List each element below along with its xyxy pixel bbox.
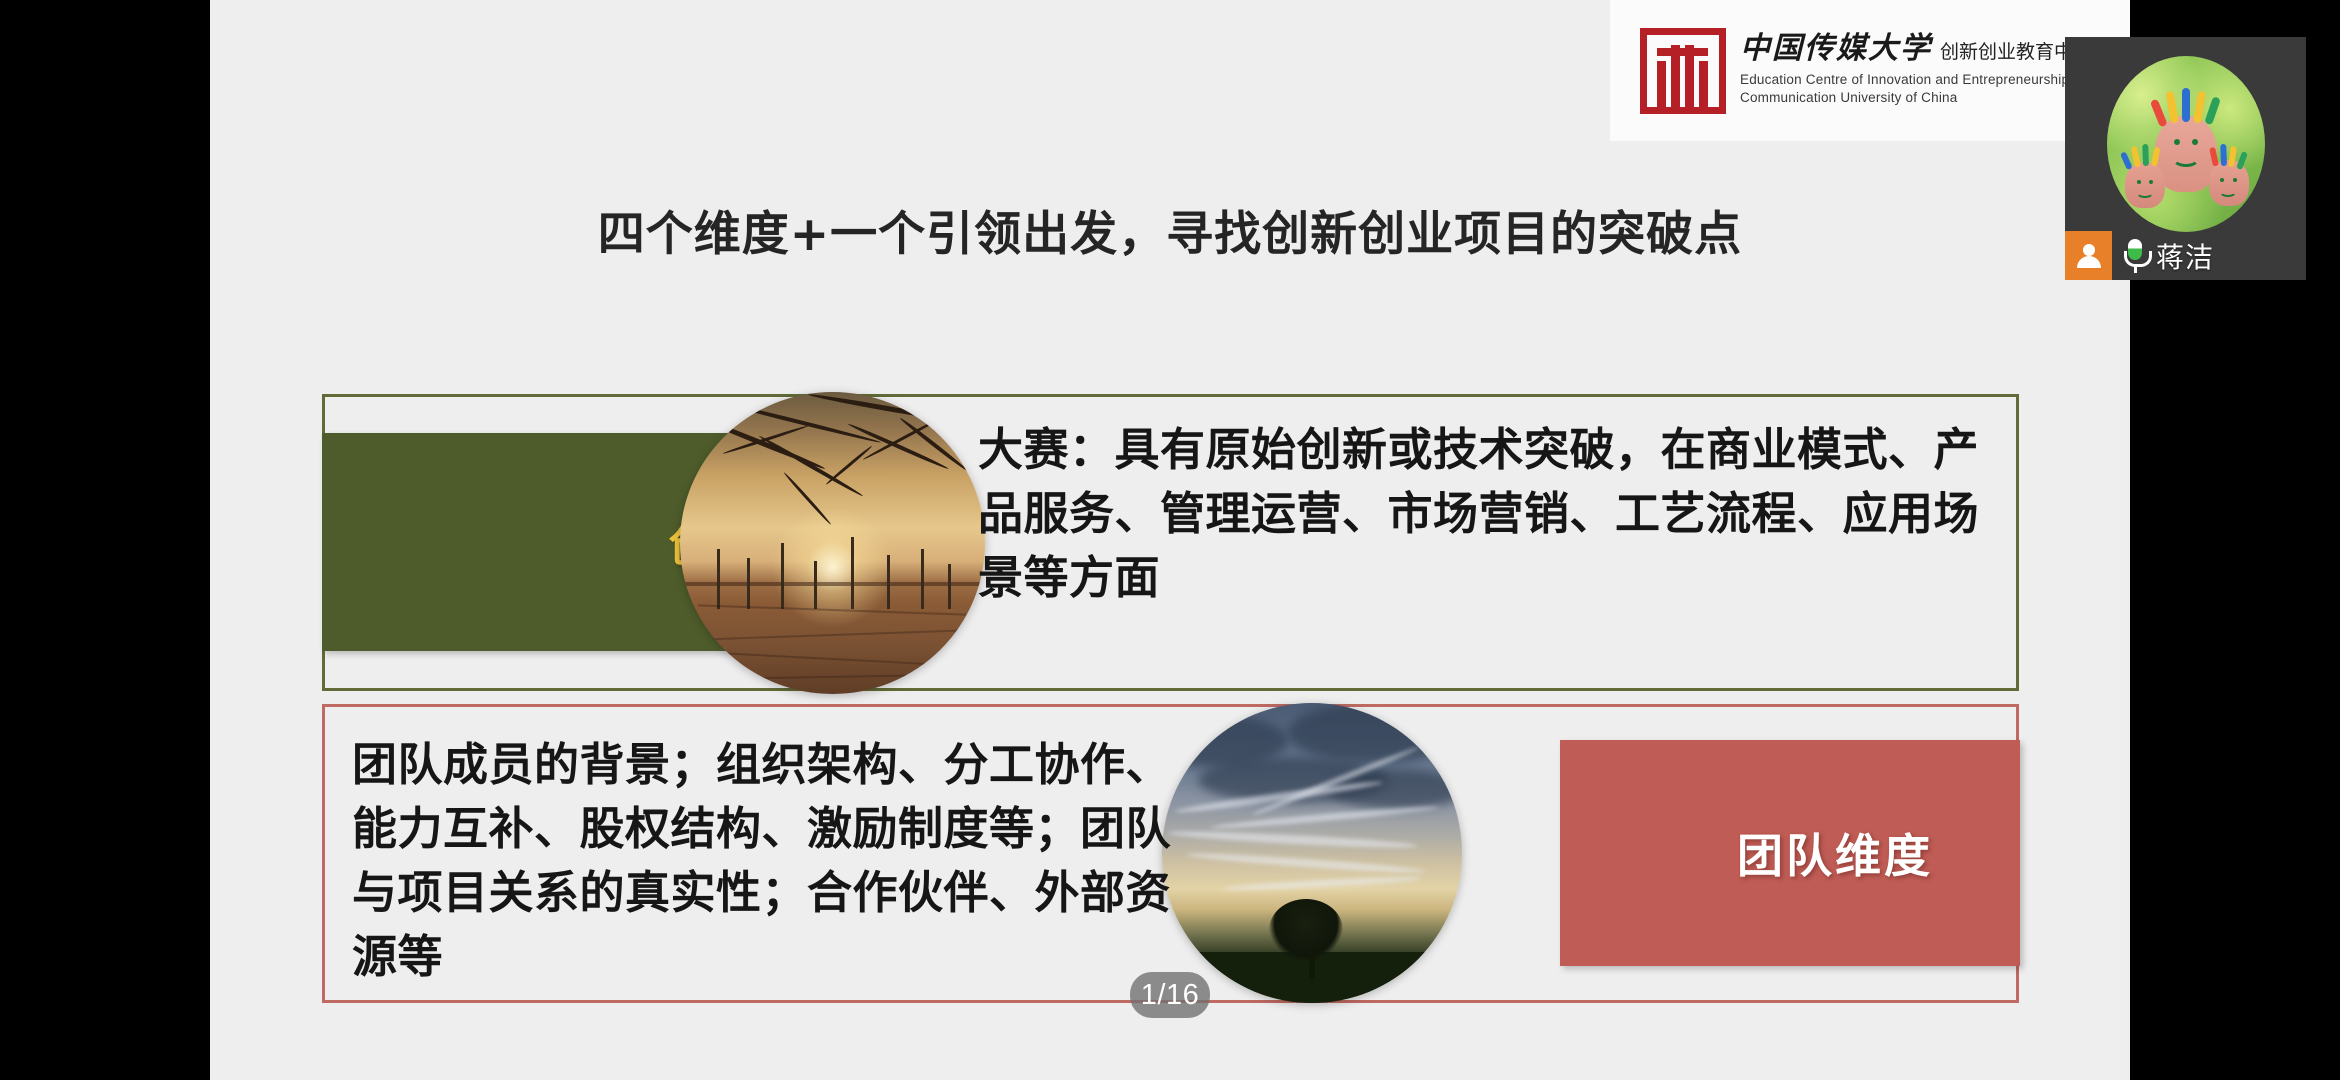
painted-hands-avatar bbox=[2107, 56, 2265, 232]
sunset-trees-oval-photo bbox=[680, 392, 985, 694]
logo-english-line-2: Communication University of China bbox=[1740, 89, 2092, 107]
participant-video-tile[interactable]: 蒋洁 bbox=[2065, 37, 2306, 280]
innovation-dimension-body: 大赛：具有原始创新或技术突破，在商业模式、产品服务、管理运营、市场营销、工艺流程… bbox=[978, 418, 1998, 610]
organization-logo: 中国传媒大学 创新创业教育中心 Education Centre of Inno… bbox=[1610, 0, 2130, 141]
person-icon bbox=[2065, 231, 2112, 280]
participant-footer: 蒋洁 bbox=[2065, 231, 2214, 280]
page-indicator: 1/16 bbox=[1130, 972, 1210, 1018]
team-dimension-label: 团队维度 bbox=[1560, 740, 2020, 966]
microphone-icon[interactable] bbox=[2122, 239, 2148, 273]
presentation-slide[interactable]: 中国传媒大学 创新创业教育中心 Education Centre of Inno… bbox=[210, 0, 2130, 1080]
screen-share-stage: 中国传媒大学 创新创业教育中心 Education Centre of Inno… bbox=[0, 0, 2340, 1080]
logo-university-name: 中国传媒大学 bbox=[1740, 34, 1932, 64]
slide-title: 四个维度+一个引领出发，寻找创新创业项目的突破点 bbox=[210, 195, 2130, 264]
participant-name: 蒋洁 bbox=[2156, 236, 2214, 276]
team-dimension-body: 团队成员的背景；组织架构、分工协作、能力互补、股权结构、激励制度等；团队与项目关… bbox=[352, 733, 1182, 989]
dusk-clouds-tree-oval-photo bbox=[1162, 703, 1462, 1003]
logo-english-line-1: Education Centre of Innovation and Entre… bbox=[1740, 71, 2092, 89]
cuc-seal-icon bbox=[1640, 28, 1726, 114]
